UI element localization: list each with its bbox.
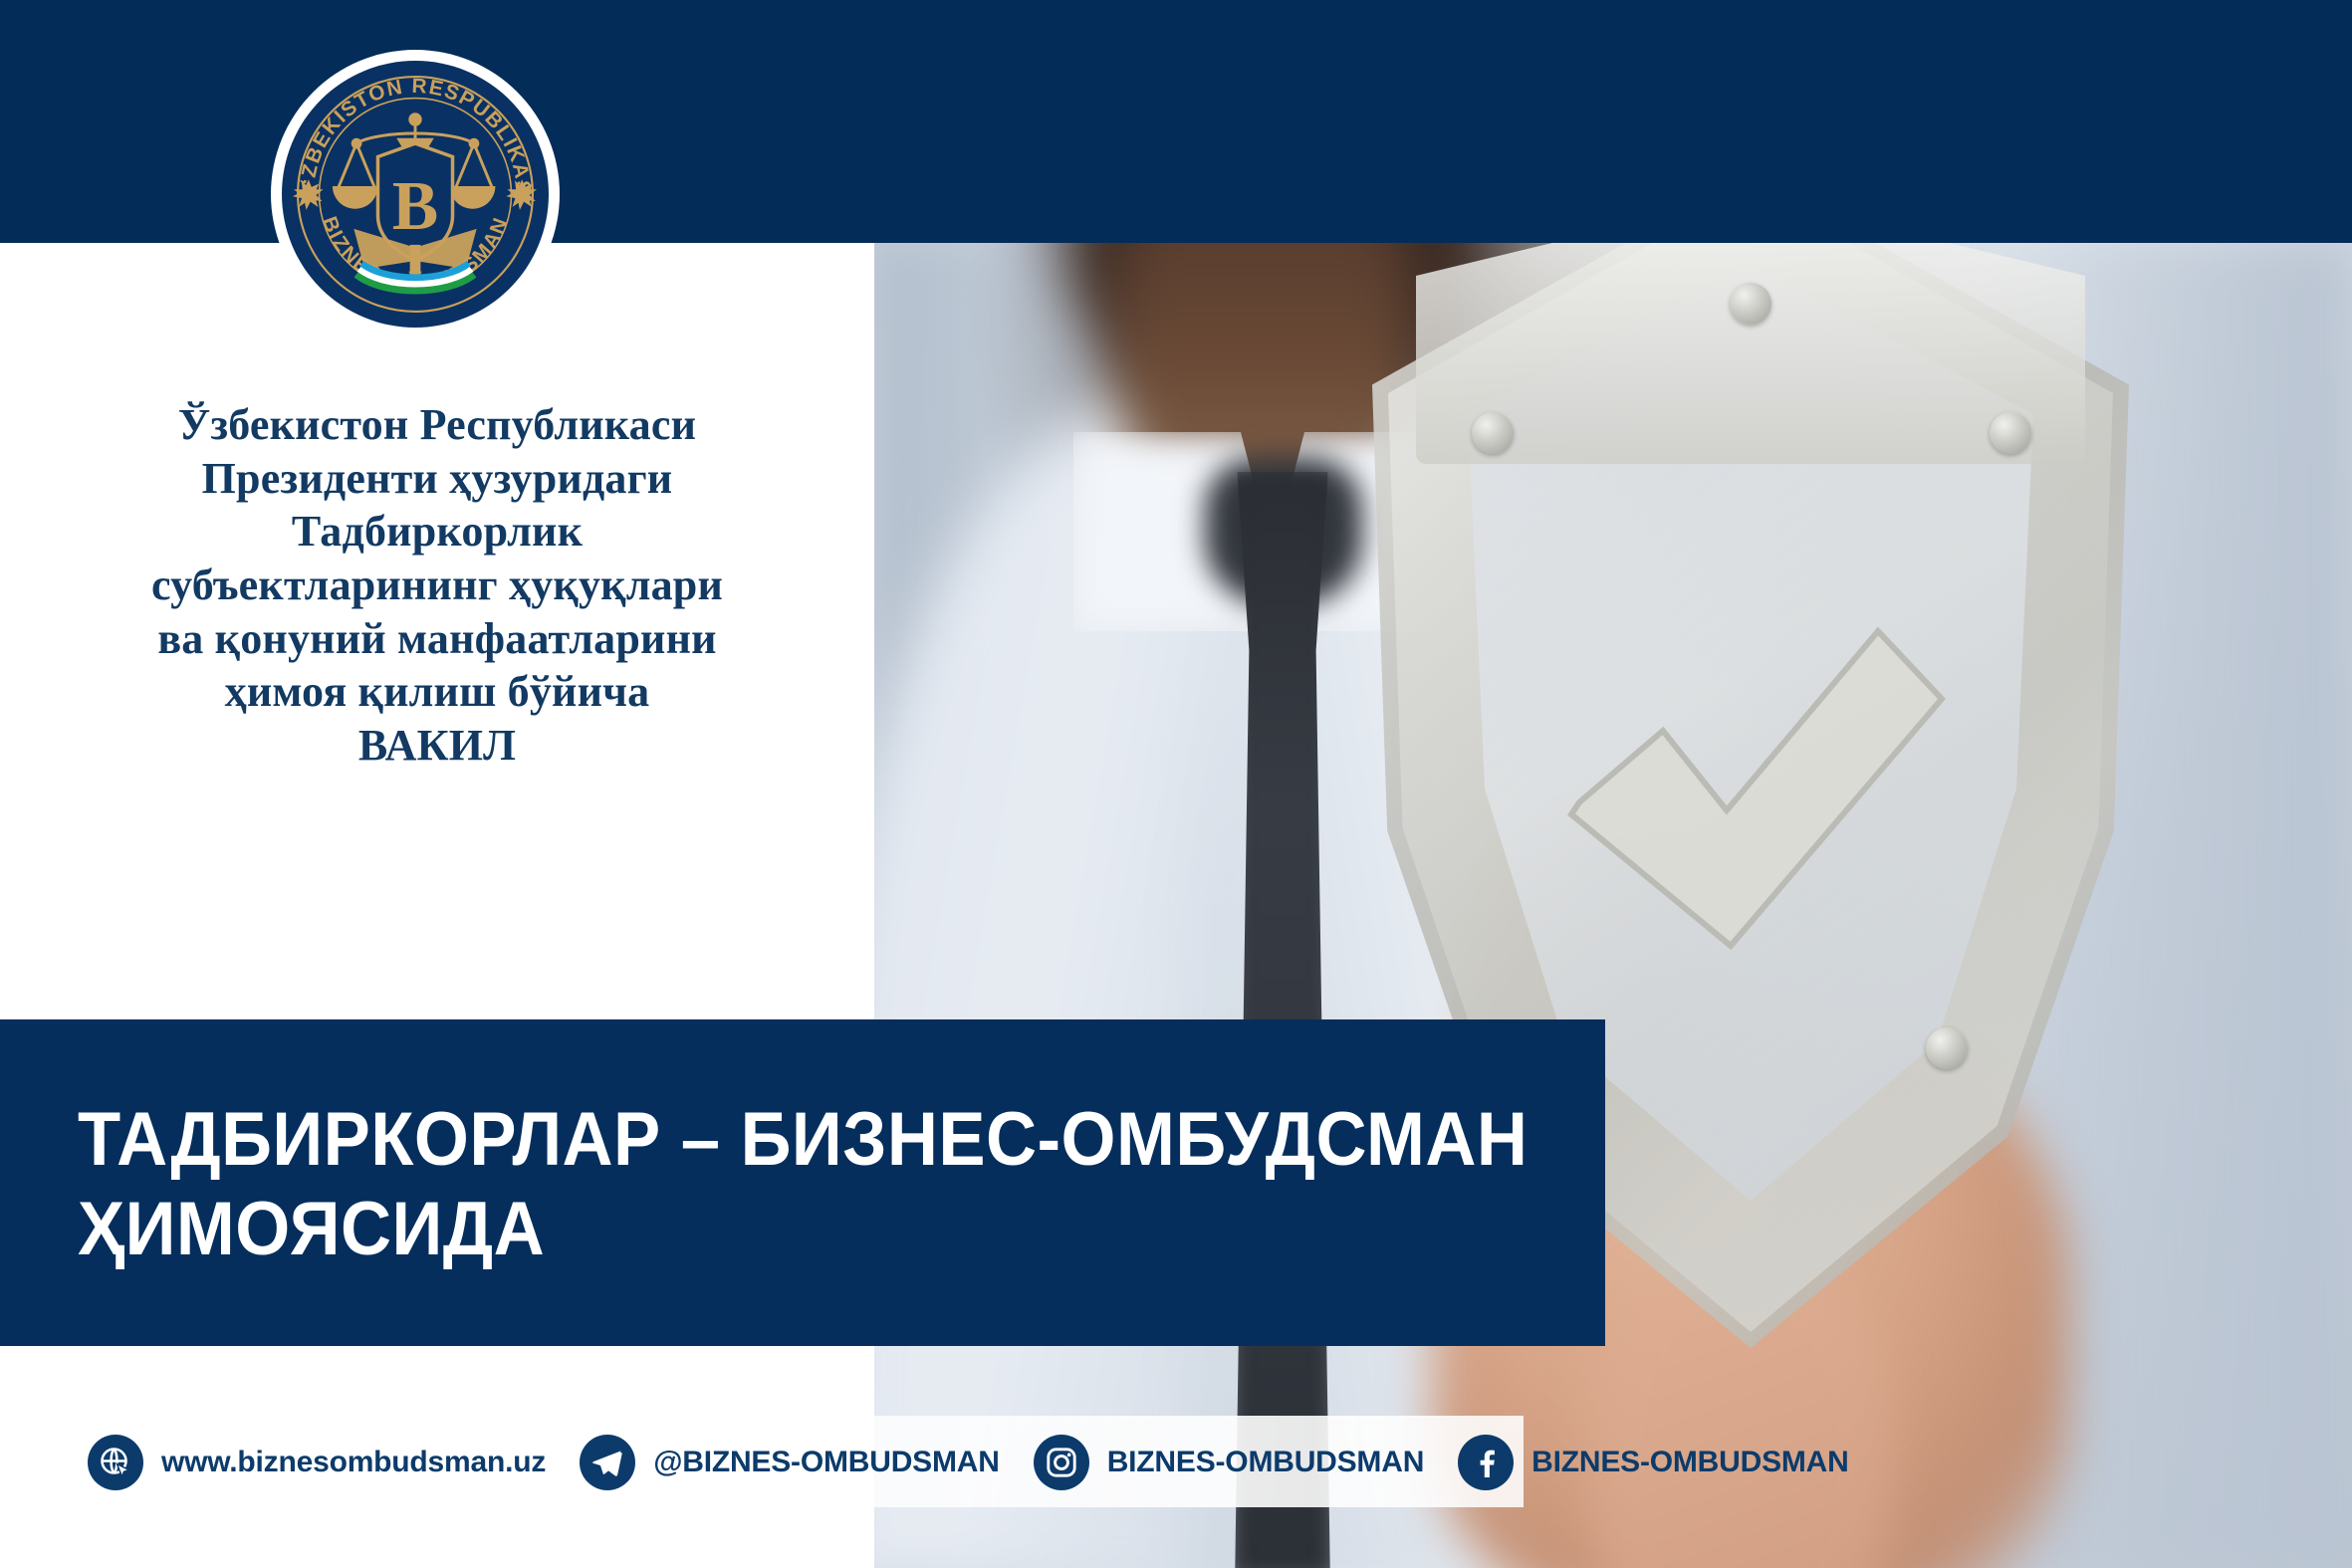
footer-item-website[interactable]: www.biznesombudsman.uz <box>88 1435 580 1490</box>
org-line-3: Тадбиркорлик <box>55 505 820 559</box>
footer-label-instagram[interactable]: BIZNES-OMBUDSMAN <box>1107 1446 1424 1479</box>
globe-icon[interactable] <box>88 1435 143 1490</box>
poster-root: O‘ZBEKISTON RESPUBLIKASI BIZNES-OMBUDSMA… <box>0 0 2352 1568</box>
shield-rivet-top <box>1730 283 1771 325</box>
headline-line-2: ҲИМОЯСИДА <box>78 1185 1486 1274</box>
headline-line-1: ТАДБИРКОРЛАР – БИЗНЕС-ОМБУДСМАН <box>78 1095 1486 1185</box>
org-line-2: Президенти ҳузуридаги <box>55 452 820 506</box>
shield-rivet-bottom-right <box>1926 1027 1968 1069</box>
instagram-icon[interactable] <box>1034 1435 1089 1490</box>
svg-text:B: B <box>392 168 438 245</box>
headline-title: ТАДБИРКОРЛАР – БИЗНЕС-ОМБУДСМАН ҲИМОЯСИД… <box>78 1095 1486 1273</box>
org-line-6: ҳимоя қилиш бўйича <box>55 665 820 719</box>
hero-photo <box>874 243 2352 1568</box>
footer-label-website[interactable]: www.biznesombudsman.uz <box>161 1446 546 1479</box>
shield-rivet-right <box>1990 412 2031 454</box>
emblem-logo: O‘ZBEKISTON RESPUBLIKASI BIZNES-OMBUDSMA… <box>271 50 560 338</box>
org-line-1: Ўзбекистон Республикаси <box>55 398 820 452</box>
footer-item-telegram[interactable]: @BIZNES-OMBUDSMAN <box>580 1435 1034 1490</box>
facebook-icon[interactable] <box>1458 1435 1514 1490</box>
footer-item-facebook[interactable]: BIZNES-OMBUDSMAN <box>1458 1435 1882 1490</box>
telegram-icon[interactable] <box>580 1435 635 1490</box>
emblem-disc: O‘ZBEKISTON RESPUBLIKASI BIZNES-OMBUDSMA… <box>282 61 549 328</box>
shield-rivet-left <box>1472 412 1514 454</box>
org-line-4: субъектларининг ҳуқуқлари <box>55 559 820 612</box>
organization-name: Ўзбекистон Республикаси Президенти ҳузур… <box>55 398 820 773</box>
shield-top-plate <box>1416 243 2085 464</box>
org-line-7: ВАКИЛ <box>55 719 820 773</box>
check-mark-icon <box>1559 611 1958 970</box>
footer-label-telegram[interactable]: @BIZNES-OMBUDSMAN <box>653 1446 1000 1479</box>
footer-label-facebook[interactable]: BIZNES-OMBUDSMAN <box>1531 1446 1848 1479</box>
footer-social-bar: www.biznesombudsman.uz @BIZNES-OMBUDSMAN… <box>88 1432 1883 1493</box>
org-line-5: ва қонуний манфаатларини <box>55 612 820 666</box>
footer-item-instagram[interactable]: BIZNES-OMBUDSMAN <box>1034 1435 1458 1490</box>
